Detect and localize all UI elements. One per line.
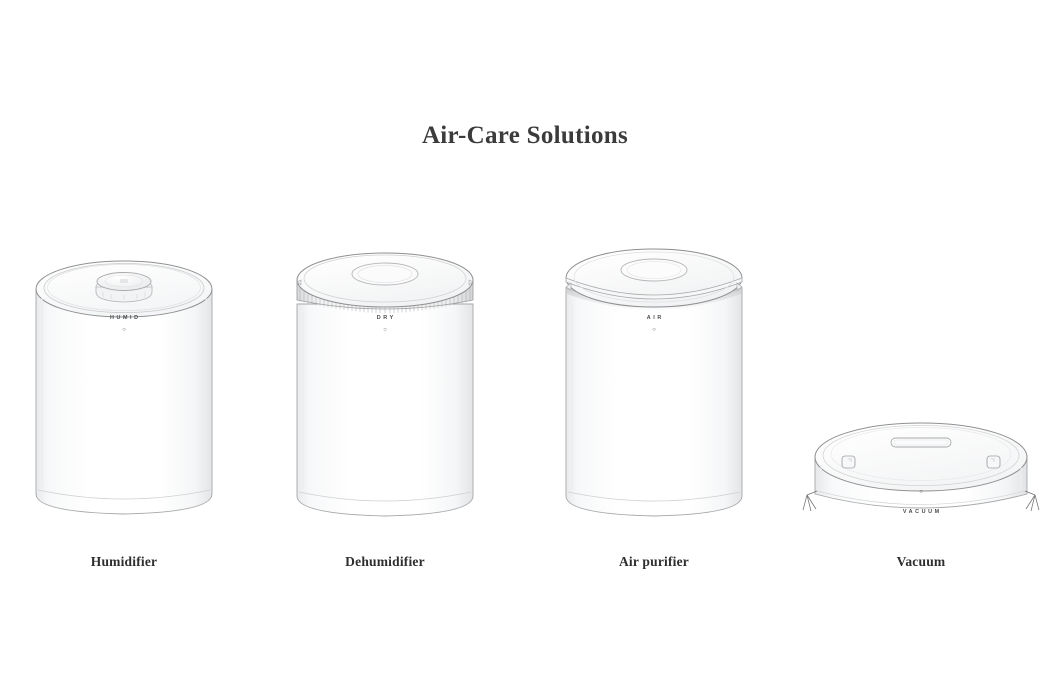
caption-vacuum: Vacuum <box>790 554 1050 570</box>
canvas: Air-Care Solutions <box>0 0 1050 700</box>
product-gallery: HUMID ○ Humidifier <box>0 232 1050 582</box>
product-card-vacuum[interactable]: ○ VACUUM Vacuum <box>790 232 1050 582</box>
caption-humidifier: Humidifier <box>0 554 255 570</box>
product-card-dehumidifier[interactable]: DRY ○ Dehumidifier <box>254 232 516 582</box>
vacuum-illustration: ○ VACUUM <box>790 232 1050 537</box>
dehumidifier-illustration: DRY ○ <box>254 232 516 537</box>
caption-air-purifier: Air purifier <box>523 554 785 570</box>
page-title: Air-Care Solutions <box>0 122 1050 150</box>
air-purifier-illustration: AIR ○ <box>523 232 785 537</box>
product-card-humidifier[interactable]: HUMID ○ Humidifier <box>0 232 255 582</box>
product-card-air-purifier[interactable]: AIR ○ Air purifier <box>523 232 785 582</box>
humidifier-illustration: HUMID ○ <box>0 232 255 537</box>
caption-dehumidifier: Dehumidifier <box>254 554 516 570</box>
